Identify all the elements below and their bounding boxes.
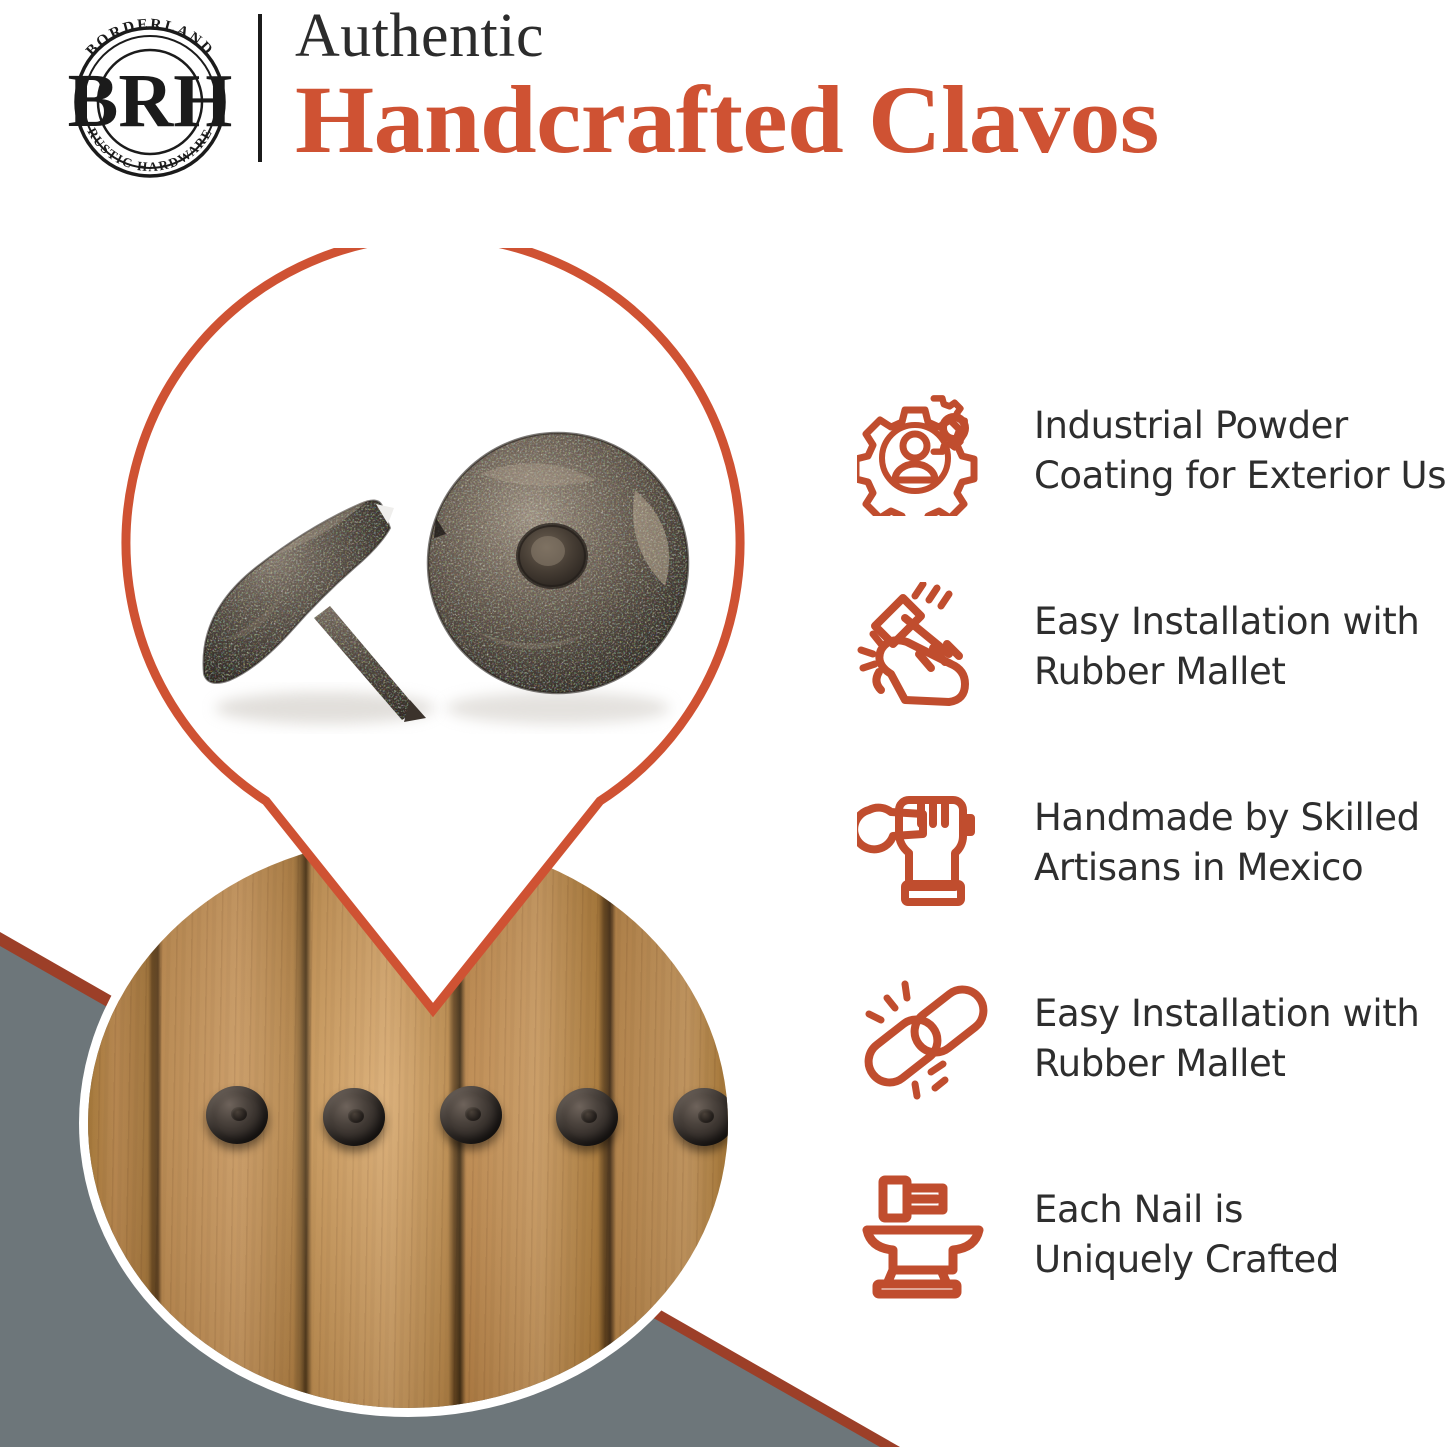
feature-label: Easy Installation with Rubber Mallet — [1002, 597, 1445, 697]
svg-text:BRH: BRH — [68, 59, 233, 143]
feature-label-line2: Rubber Mallet — [1034, 647, 1445, 697]
feature-label-line2: Rubber Mallet — [1034, 1039, 1445, 1089]
door-clavo-head — [556, 1088, 618, 1146]
door-clavo-head — [673, 1088, 728, 1146]
logo-top-arc-text: BORDERLAND — [83, 16, 218, 60]
product-infographic: BORDERLAND RUSTIC HARDWARE BRH Authentic… — [0, 0, 1445, 1447]
door-clavo-head — [206, 1086, 268, 1144]
door-clavo-head — [323, 1088, 385, 1146]
hand-mallet-icon — [852, 577, 1002, 717]
feature-label-line1: Each Nail is — [1034, 1185, 1445, 1235]
page-title: Handcrafted Clavos — [295, 70, 1445, 170]
feature-label-line2: Artisans in Mexico — [1034, 843, 1445, 893]
feature-item: Easy Installation with Rubber Mallet — [852, 564, 1445, 730]
feature-label: Industrial Powder Coating for Exterior U… — [1002, 401, 1445, 501]
title-block: Authentic Handcrafted Clavos — [295, 2, 1435, 170]
feature-item: Handmade by Skilled Artisans in Mexico — [852, 760, 1445, 926]
feature-label: Easy Installation with Rubber Mallet — [1002, 989, 1445, 1089]
feature-item: Each Nail is Uniquely Crafted — [852, 1152, 1445, 1318]
brand-logo: BORDERLAND RUSTIC HARDWARE BRH — [55, 14, 245, 179]
feature-label: Handmade by Skilled Artisans in Mexico — [1002, 793, 1445, 893]
feature-label-line1: Handmade by Skilled — [1034, 793, 1445, 843]
page-subtitle: Authentic — [295, 2, 1435, 70]
hand-wrench-icon — [852, 773, 1002, 913]
feature-label-line1: Industrial Powder — [1034, 401, 1445, 451]
feature-item: Easy Installation with Rubber Mallet — [852, 956, 1445, 1122]
chain-link-icon — [852, 969, 1002, 1109]
logo-monogram: BRH — [68, 59, 233, 143]
anvil-hammer-icon — [852, 1165, 1002, 1305]
feature-label: Each Nail is Uniquely Crafted — [1002, 1185, 1445, 1285]
callout-outline — [118, 248, 748, 1020]
feature-label-line2: Uniquely Crafted — [1034, 1235, 1445, 1285]
product-callout-pin — [118, 248, 748, 1020]
feature-label-line1: Easy Installation with — [1034, 597, 1445, 647]
header: BORDERLAND RUSTIC HARDWARE BRH Authentic… — [0, 0, 1445, 200]
gear-person-icon — [852, 381, 1002, 521]
feature-item: Industrial Powder Coating for Exterior U… — [852, 368, 1445, 534]
feature-label-line1: Easy Installation with — [1034, 989, 1445, 1039]
door-clavo-head — [440, 1086, 502, 1144]
feature-label-line2: Coating for Exterior Use — [1034, 451, 1445, 501]
header-divider — [258, 14, 262, 162]
feature-list: Industrial Powder Coating for Exterior U… — [852, 368, 1445, 1348]
